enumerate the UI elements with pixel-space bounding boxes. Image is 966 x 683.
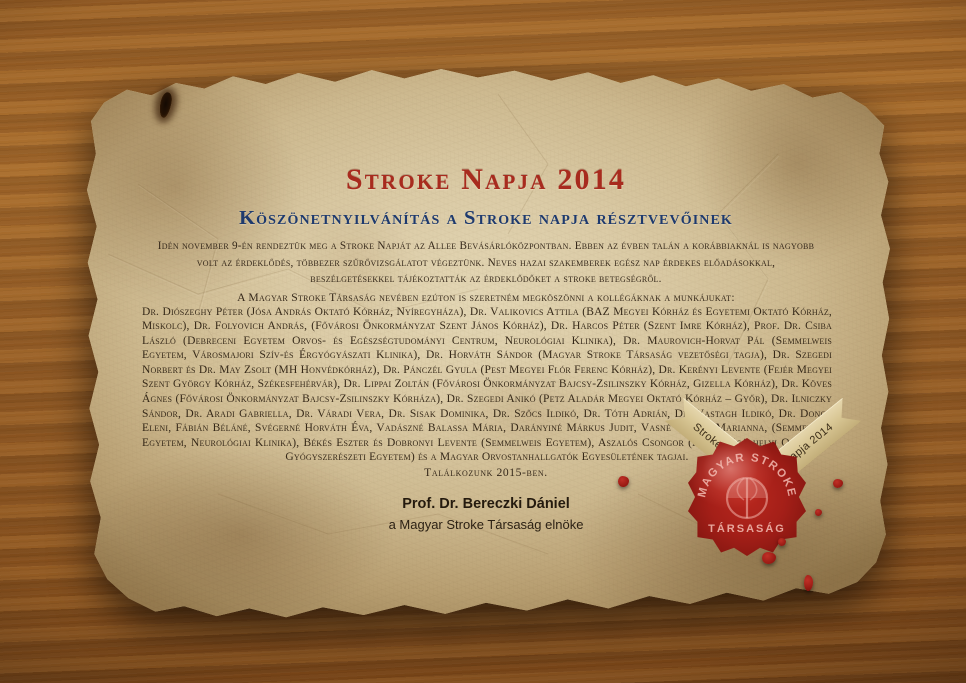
- wax-seal-group: Stroke Napja 2014 Stroke Napja 2014 MAGY…: [660, 440, 900, 645]
- wax-droplet: [815, 509, 822, 516]
- wax-seal: [688, 438, 806, 556]
- wax-droplet: [762, 552, 776, 564]
- page-subtitle: Köszönetnyilvánítás a Stroke napja részt…: [78, 207, 894, 230]
- wax-droplet: [778, 538, 786, 546]
- poster-canvas: dmd DIAMOND AGENCY Str: [0, 0, 966, 683]
- intro-paragraph: Idén november 9-én rendeztük meg a Strok…: [156, 238, 816, 288]
- wax-droplet: [833, 479, 843, 488]
- page-title: Stroke Napja 2014: [78, 163, 894, 197]
- intro-call-to-thanks: A Magyar Stroke Társaság nevében ezúton …: [156, 291, 816, 304]
- wax-droplet: [804, 575, 813, 591]
